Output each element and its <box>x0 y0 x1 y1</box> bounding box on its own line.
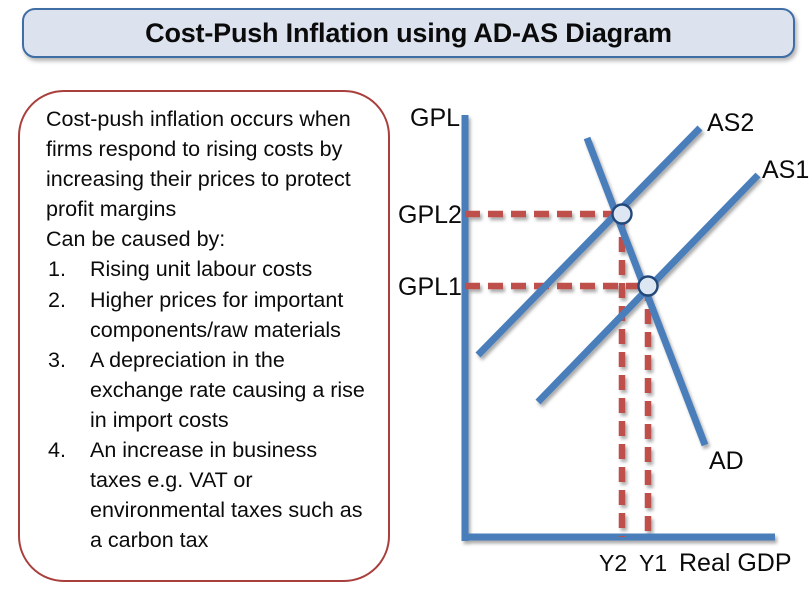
as2-label: AS2 <box>707 109 754 137</box>
list-item: 2. Higher prices for important component… <box>46 285 372 345</box>
x-axis-title: Real GDP <box>679 549 792 577</box>
y-axis-title: GPL <box>410 104 460 132</box>
as2-curve <box>478 128 700 355</box>
list-item-number: 1. <box>48 254 82 284</box>
page-title: Cost-Push Inflation using AD-AS Diagram <box>145 18 672 49</box>
equilibrium-point-e2 <box>613 205 632 224</box>
explanation-paragraph: Cost-push inflation occurs when firms re… <box>46 104 372 224</box>
output-tick-y2: Y2 <box>599 550 627 576</box>
as1-label: AS1 <box>762 156 809 184</box>
list-item-number: 2. <box>48 285 82 315</box>
price-tick-gpl1: GPL1 <box>398 273 462 301</box>
causes-lead-in: Can be caused by: <box>46 224 372 254</box>
list-item: 4. An increase in business taxes e.g. VA… <box>46 435 372 555</box>
list-item-text: Rising unit labour costs <box>90 257 312 281</box>
causes-list: 1. Rising unit labour costs 2. Higher pr… <box>46 254 372 555</box>
ad-label: AD <box>709 447 744 475</box>
ad-as-diagram: AS2 AS1 AD GPL Real GDP GPL2 GPL1 Y2 Y1 <box>396 86 812 606</box>
explanation-panel: Cost-push inflation occurs when firms re… <box>18 90 390 582</box>
list-item-text: Higher prices for important components/r… <box>90 288 343 342</box>
title-banner: Cost-Push Inflation using AD-AS Diagram <box>22 8 795 58</box>
equilibrium-point-e1 <box>639 277 658 296</box>
list-item-text: An increase in business taxes e.g. VAT o… <box>90 438 362 552</box>
price-tick-gpl2: GPL2 <box>398 201 462 229</box>
list-item-number: 3. <box>48 345 82 375</box>
list-item: 3. A depreciation in the exchange rate c… <box>46 345 372 435</box>
output-tick-y1: Y1 <box>639 550 667 576</box>
list-item: 1. Rising unit labour costs <box>46 254 372 284</box>
list-item-number: 4. <box>48 435 82 465</box>
list-item-text: A depreciation in the exchange rate caus… <box>90 348 365 432</box>
